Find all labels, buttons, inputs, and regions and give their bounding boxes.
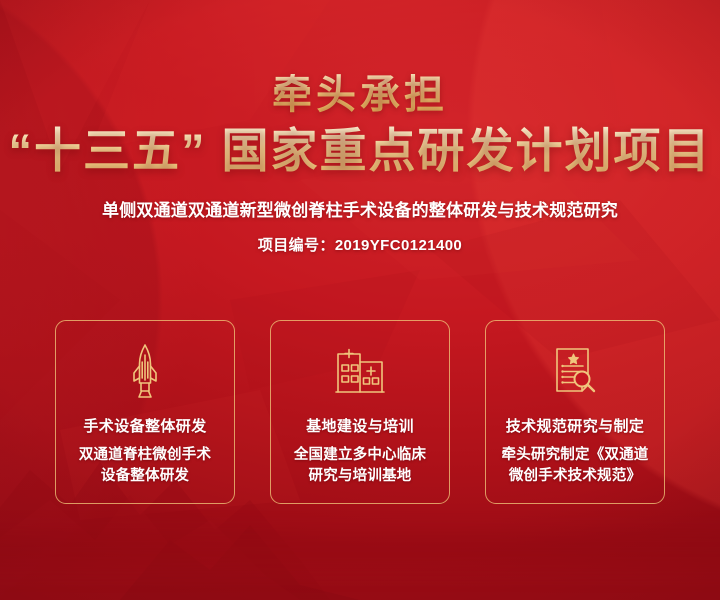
card-description-line1: 牵头研究制定《双通道	[502, 447, 649, 463]
card-description-line2: 研究与培训基地	[309, 468, 412, 484]
document-magnifier-icon	[549, 343, 601, 399]
background-bottom-band	[0, 520, 720, 580]
card-title: 手术设备整体研发	[83, 415, 206, 436]
eyebrow-text: 牵头承担	[0, 74, 720, 117]
poster-root: 牵头承担 “十三五” 国家重点研发计划项目 单侧双通道双通道新型微创脊柱手术设备…	[0, 0, 720, 600]
highlight-card-list: 手术设备整体研发 双通道脊柱微创手术 设备整体研发	[55, 320, 665, 504]
card-description: 牵头研究制定《双通道 微创手术技术规范》	[502, 445, 649, 486]
card-title: 技术规范研究与制定	[506, 415, 645, 436]
hospital-building-icon	[334, 343, 386, 399]
card-description-line1: 双通道脊柱微创手术	[79, 447, 211, 463]
highlight-card-equipment[interactable]: 手术设备整体研发 双通道脊柱微创手术 设备整体研发	[55, 320, 235, 504]
subtitle-text: 单侧双通道双通道新型微创脊柱手术设备的整体研发与技术规范研究	[0, 196, 720, 221]
card-description: 双通道脊柱微创手术 设备整体研发	[79, 445, 211, 486]
card-title: 基地建设与培训	[306, 415, 414, 436]
card-description-line2: 微创手术技术规范》	[509, 468, 641, 484]
page-title: “十三五” 国家重点研发计划项目	[0, 125, 720, 177]
card-description-line1: 全国建立多中心临床	[294, 447, 426, 463]
card-description: 全国建立多中心临床 研究与培训基地	[294, 445, 426, 486]
project-number: 项目编号：2019YFC0121400	[0, 234, 720, 255]
card-description-line2: 设备整体研发	[101, 468, 189, 484]
rocket-icon	[119, 343, 171, 399]
poster-header: 牵头承担 “十三五” 国家重点研发计划项目 单侧双通道双通道新型微创脊柱手术设备…	[0, 0, 720, 255]
highlight-card-standards[interactable]: 技术规范研究与制定 牵头研究制定《双通道 微创手术技术规范》	[485, 320, 665, 504]
highlight-card-training-base[interactable]: 基地建设与培训 全国建立多中心临床 研究与培训基地	[270, 320, 450, 504]
